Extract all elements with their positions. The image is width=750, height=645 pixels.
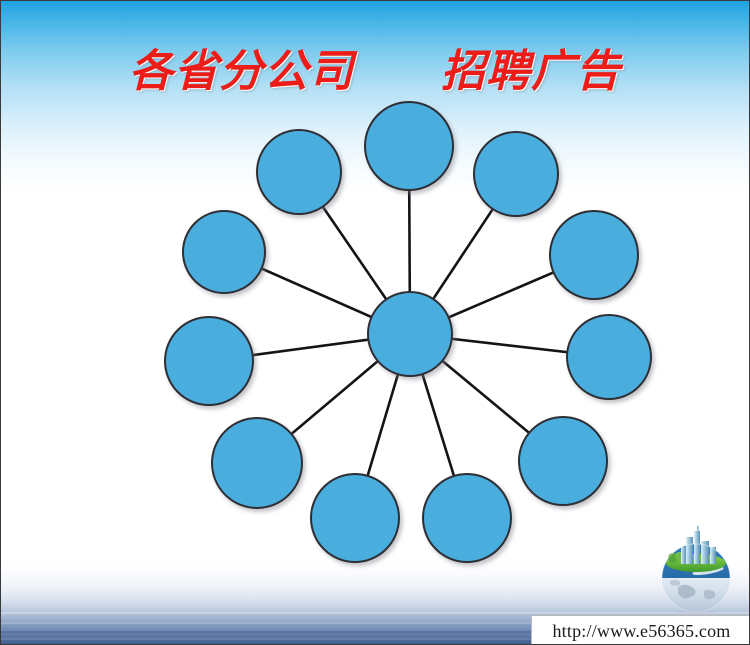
- satellite-node: [311, 474, 399, 562]
- satellite-node: [165, 317, 253, 405]
- center-node-group: [368, 292, 452, 376]
- hub-and-spoke-diagram: [1, 1, 750, 645]
- watermark-url: http://www.e56365.com: [552, 621, 730, 642]
- satellite-node: [519, 417, 607, 505]
- center-node: [368, 292, 452, 376]
- watermark-bar: http://www.e56365.com: [531, 615, 750, 645]
- satellite-node: [183, 211, 265, 293]
- satellite-node: [257, 130, 341, 214]
- satellite-node: [212, 418, 302, 508]
- satellite-node: [423, 474, 511, 562]
- satellite-node: [474, 132, 558, 216]
- satellite-node: [567, 315, 651, 399]
- slide-canvas: 各省分公司 招聘广告: [0, 0, 750, 645]
- satellite-node: [550, 211, 638, 299]
- satellite-node: [365, 102, 453, 190]
